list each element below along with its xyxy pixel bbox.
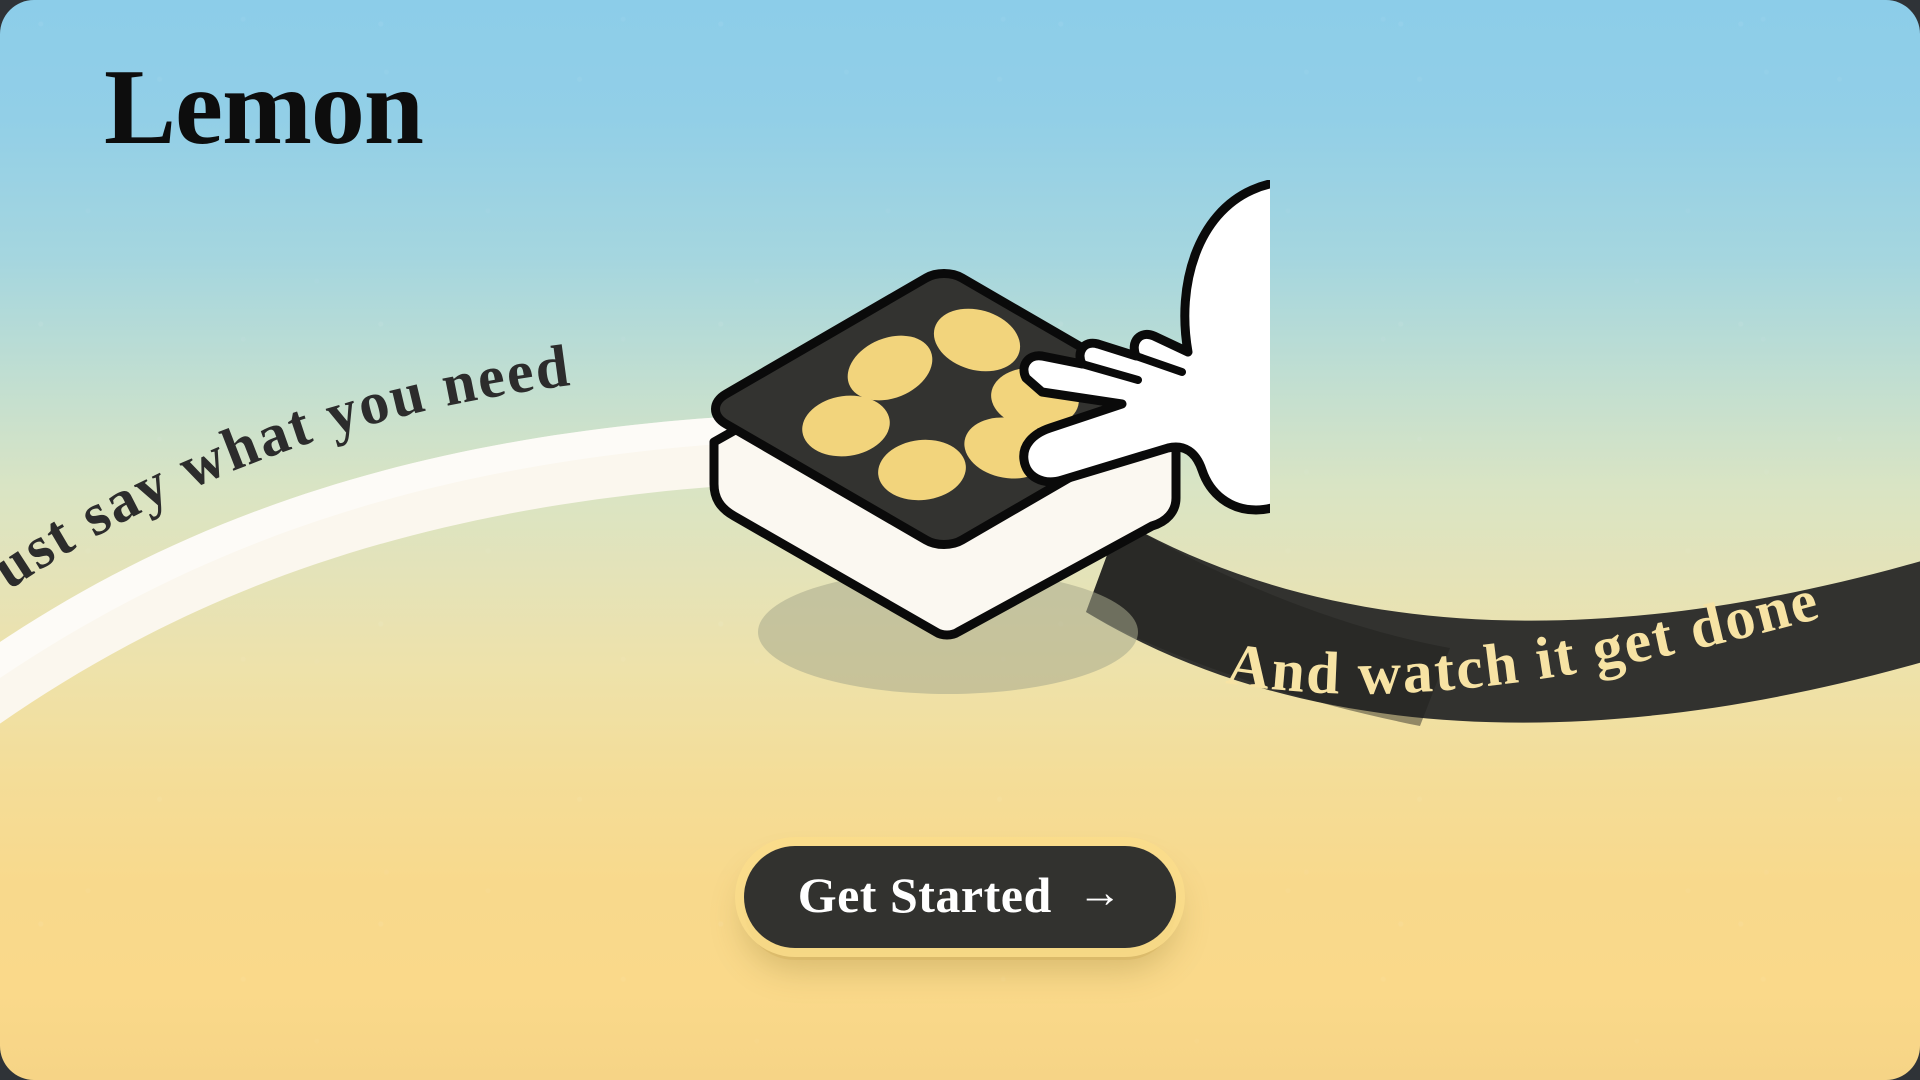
brand-wordmark: Lemon	[104, 54, 423, 162]
dark-ribbon-text: And watch it get done	[1223, 566, 1826, 707]
get-started-button[interactable]: Get Started →	[744, 846, 1177, 948]
lemon-device-illustration	[690, 180, 1270, 740]
light-ribbon-text: Just say what you need	[0, 332, 575, 619]
arrow-right-icon: →	[1078, 871, 1123, 915]
cta-container: Get Started →	[0, 846, 1920, 948]
dark-ribbon-textpath: And watch it get done	[1223, 566, 1826, 707]
hero-canvas: Just say what you need And watch it get …	[0, 0, 1920, 1080]
light-ribbon-textpath: Just say what you need	[0, 332, 575, 619]
get-started-label: Get Started	[798, 866, 1052, 924]
